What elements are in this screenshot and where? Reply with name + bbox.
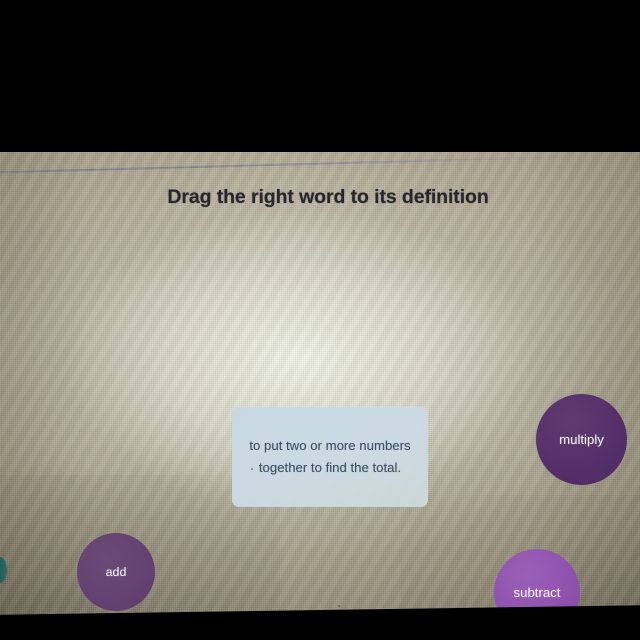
letterbox-bottom xyxy=(0,625,640,640)
definition-drop-target[interactable]: to put two or more numbers together to f… xyxy=(232,407,428,507)
word-bubble-add-label: add xyxy=(106,565,127,579)
word-bubble-subtract-label: subtract xyxy=(514,585,561,600)
photo-speck xyxy=(251,468,253,470)
activity-content: Drag the right word to its definition to… xyxy=(0,152,640,625)
definition-text: to put two or more numbers together to f… xyxy=(232,435,428,480)
page-title: Drag the right word to its definition xyxy=(0,186,640,209)
word-bubble-multiply[interactable]: multiply xyxy=(536,394,627,485)
letterbox-top xyxy=(0,0,640,152)
screen-surface: Drag the right word to its definition to… xyxy=(0,152,640,625)
photographed-screen-frame: Drag the right word to its definition to… xyxy=(0,0,640,640)
photo-speck xyxy=(338,605,340,607)
word-bubble-add[interactable]: add xyxy=(77,533,155,611)
word-bubble-multiply-label: multiply xyxy=(559,432,604,447)
